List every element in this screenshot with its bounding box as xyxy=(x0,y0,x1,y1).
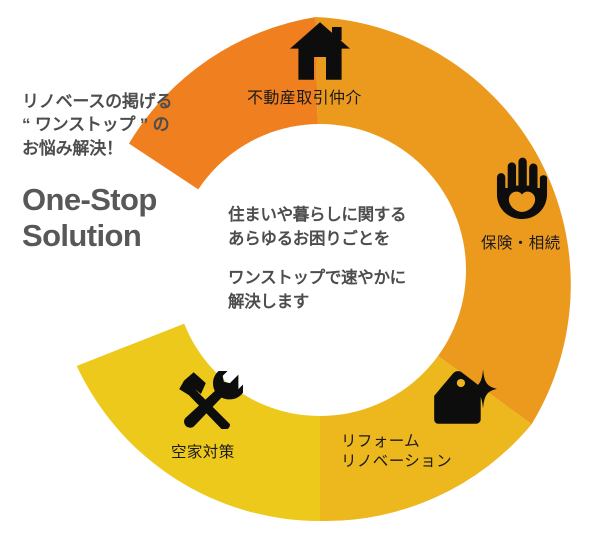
headline-en-line-2: Solution xyxy=(22,218,232,253)
headline-en: One-Stop Solution xyxy=(22,182,232,253)
center-paragraph-1-line-1: 住まいや暮らしに関する xyxy=(228,203,458,227)
hand-heart-icon xyxy=(496,157,548,219)
segment-label-insurance-line-1: 保険・相続 xyxy=(481,234,561,254)
center-paragraph-1-line-2: あらゆるお困りごとを xyxy=(228,227,458,251)
segment-label-vacant-house-line-1: 空家対策 xyxy=(171,443,235,463)
hammer-wrench-icon xyxy=(177,371,243,429)
center-paragraph-1: 住まいや暮らしに関する あらゆるお困りごとを xyxy=(228,203,458,252)
segment-label-reform-line-2: リノベーション xyxy=(341,452,452,472)
segment-label-insurance: 保険・相続 xyxy=(481,234,561,254)
house-sparkle-icon xyxy=(433,369,497,425)
lead-line-3: お悩み解決！ xyxy=(22,137,232,160)
headline-en-line-1: One-Stop xyxy=(22,182,232,217)
headline-block: リノベースの掲げる “ ワンストップ ” の お悩み解決！ One-Stop S… xyxy=(22,90,232,253)
segment-label-reform-line-1: リフォーム xyxy=(341,432,452,452)
infographic-canvas: リノベースの掲げる “ ワンストップ ” の お悩み解決！ One-Stop S… xyxy=(0,0,600,533)
center-copy: 住まいや暮らしに関する あらゆるお困りごとを ワンストップで速やかに 解決します xyxy=(228,203,458,315)
segment-label-real-estate: 不動産取引仲介 xyxy=(247,88,362,109)
center-paragraph-2: ワンストップで速やかに 解決します xyxy=(228,266,458,315)
center-paragraph-2-line-2: 解決します xyxy=(228,290,458,314)
house-icon xyxy=(290,22,350,80)
lead-line-2: “ ワンストップ ” の xyxy=(22,113,232,136)
segment-label-reform: リフォーム リノベーション xyxy=(341,432,452,473)
segment-label-real-estate-line-1: 不動産取引仲介 xyxy=(247,88,362,109)
lead-line-1: リノベースの掲げる xyxy=(22,90,232,113)
segment-label-vacant-house: 空家対策 xyxy=(171,443,235,463)
center-paragraph-2-line-1: ワンストップで速やかに xyxy=(228,266,458,290)
